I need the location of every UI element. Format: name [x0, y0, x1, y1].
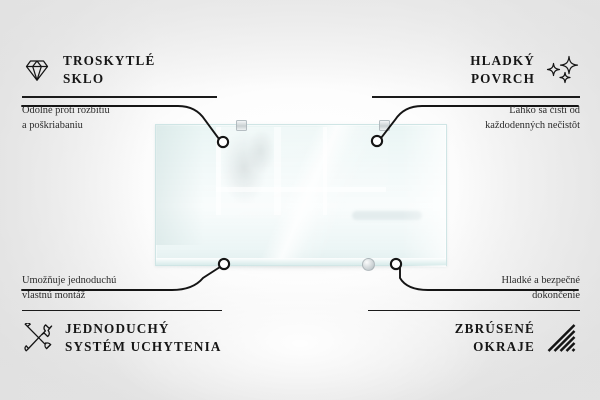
callout-heading-row: ZBRÚSENÉ OKRAJE [340, 320, 580, 356]
callout-heading: HLADKÝ POVRCH [470, 52, 535, 88]
callout-top-right: HLADKÝ POVRCH Ľahko sa čistí od každoden… [342, 52, 580, 134]
highlight-reflection [402, 125, 446, 267]
callout-top-left: TROSKYTLÉ SKLO Odolné proti rozbitiu a p… [22, 52, 252, 134]
panel-bottom-edge [156, 258, 446, 265]
mounting-standoff [362, 258, 375, 271]
callout-description: Hladké a bezpečné dokončenie [340, 274, 580, 304]
callout-description: Odolné proti rozbitiu a poškriabaniu [22, 104, 252, 134]
callout-heading: TROSKYTLÉ SKLO [63, 52, 155, 88]
glass-panel [155, 124, 447, 266]
callout-heading: JEDNODUCHÝ SYSTÉM UCHYTENIA [65, 320, 222, 356]
callout-divider [368, 310, 580, 312]
callout-divider [22, 310, 222, 312]
panel-surface [155, 124, 447, 266]
callout-bottom-left: Umožňuje jednoduchú vlastnú montáž JEDNO… [22, 274, 258, 357]
product-infographic: TROSKYTLÉ SKLO Odolné proti rozbitiu a p… [0, 0, 600, 400]
callout-heading-row: JEDNODUCHÝ SYSTÉM UCHYTENIA [22, 320, 258, 356]
panel-edge-tint [156, 125, 204, 245]
callout-bottom-right: Hladké a bezpečné dokončenie ZBRÚSENÉ OK… [340, 274, 580, 357]
callout-divider [22, 96, 217, 98]
callout-heading: ZBRÚSENÉ OKRAJE [455, 320, 535, 356]
callout-description: Ľahko sa čistí od každodenných nečistôt [342, 104, 580, 134]
sparkles-icon [546, 55, 580, 85]
screwdriver-wrench-icon [22, 323, 54, 353]
beveled-edge-hatch-icon [546, 323, 580, 353]
callout-heading-row: TROSKYTLÉ SKLO [22, 52, 252, 88]
diamond-gem-icon [22, 57, 52, 83]
callout-description: Umožňuje jednoduchú vlastnú montáž [22, 274, 258, 304]
callout-divider [372, 96, 580, 98]
callout-heading-row: HLADKÝ POVRCH [342, 52, 580, 88]
plant-reflection [208, 131, 294, 223]
